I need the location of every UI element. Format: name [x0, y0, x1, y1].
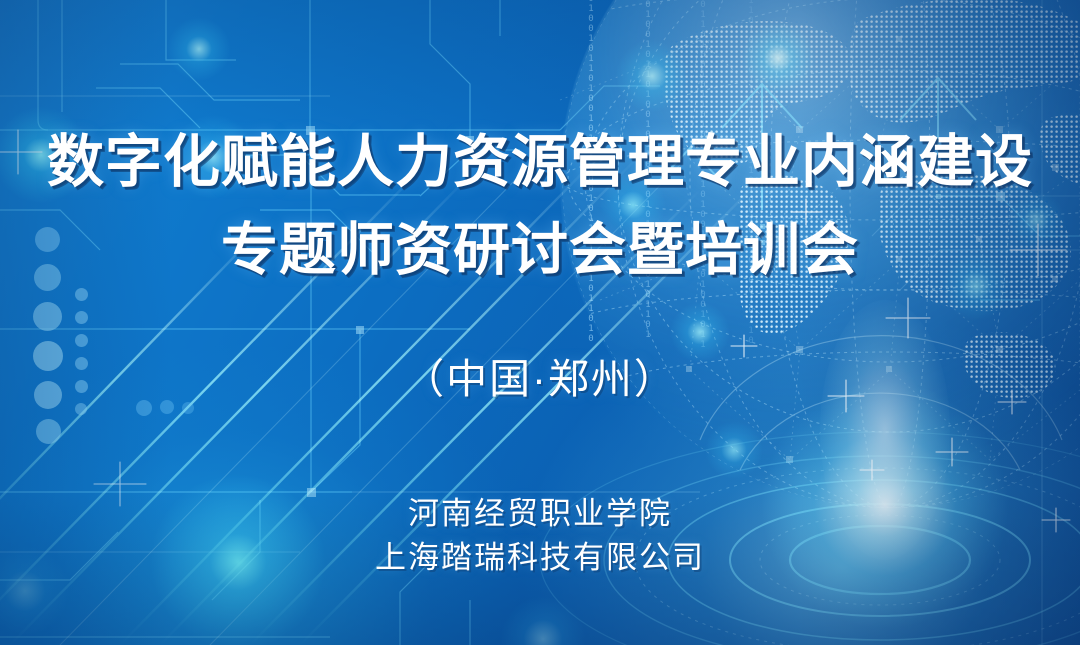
poster-title: 数字化赋能人力资源管理专业内涵建设 专题师资研讨会暨培训会	[0, 118, 1080, 294]
poster-canvas: 01001011010010110100101101001011010 1010…	[0, 0, 1080, 645]
title-line-2: 专题师资研讨会暨培训会	[0, 206, 1080, 294]
poster-subtitle-location: （中国·郑州）	[0, 345, 1080, 405]
title-line-1: 数字化赋能人力资源管理专业内涵建设	[0, 118, 1080, 206]
organizer-line-1: 河南经贸职业学院	[0, 492, 1080, 536]
organizer-line-2: 上海踏瑞科技有限公司	[0, 536, 1080, 580]
organizer-list: 河南经贸职业学院 上海踏瑞科技有限公司	[0, 492, 1080, 580]
